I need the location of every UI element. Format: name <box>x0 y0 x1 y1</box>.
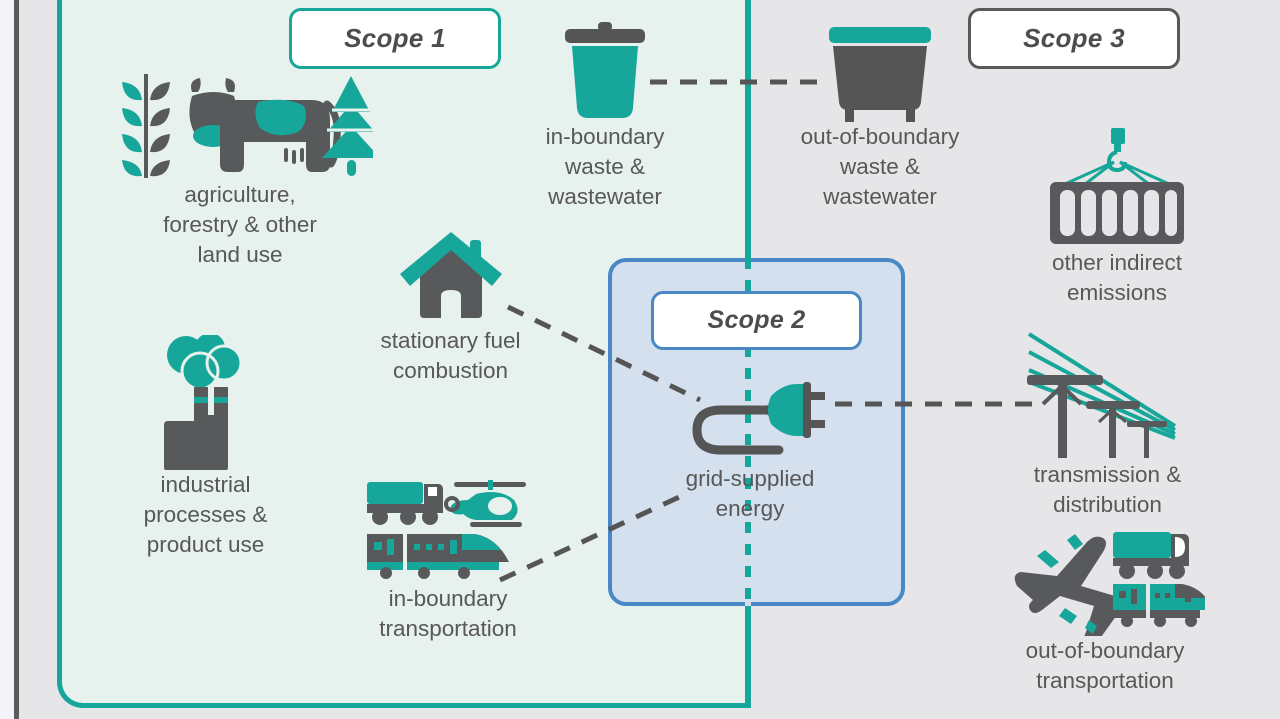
item-out-of-boundary-transportation: out-of-boundary transportation <box>1000 528 1210 696</box>
item-in-boundary-transportation: in-boundary transportation <box>348 476 548 644</box>
item-agriculture-label: agriculture, forestry & other land use <box>95 180 385 270</box>
scope2-label-text: Scope 2 <box>708 306 806 335</box>
dumpster-icon <box>825 22 935 122</box>
item-stationary-fuel: stationary fuel combustion <box>358 230 543 386</box>
item-in-boundary-transportation-label: in-boundary transportation <box>348 584 548 644</box>
wheat-cow-tree-icon <box>108 70 373 180</box>
left-margin-strip <box>0 0 14 719</box>
power-lines-icon <box>1013 330 1203 460</box>
scope3-label-text: Scope 3 <box>1023 23 1125 54</box>
scope1-label-pill: Scope 1 <box>289 8 501 69</box>
item-grid-supplied-energy-label: grid-supplied energy <box>660 464 840 524</box>
item-transmission-distribution-label: transmission & distribution <box>1010 460 1205 520</box>
truck-helicopter-train-icon <box>364 476 532 584</box>
house-icon <box>396 230 506 326</box>
item-industrial: industrial processes & product use <box>118 335 293 560</box>
item-in-boundary-waste: in-boundary waste & wastewater <box>515 22 695 212</box>
scope3-label-pill: Scope 3 <box>968 8 1180 69</box>
item-in-boundary-waste-label: in-boundary waste & wastewater <box>515 122 695 212</box>
item-grid-supplied-energy: grid-supplied energy <box>660 372 840 524</box>
item-stationary-fuel-label: stationary fuel combustion <box>358 326 543 386</box>
item-industrial-label: industrial processes & product use <box>118 470 293 560</box>
item-other-indirect-emissions-label: other indirect emissions <box>1022 248 1212 308</box>
item-transmission-distribution: transmission & distribution <box>1010 330 1205 520</box>
item-out-of-boundary-waste: out-of-boundary waste & wastewater <box>790 22 970 212</box>
diagram-canvas: Scope 1 Scope 3 Scope 2 <box>0 0 1280 719</box>
shipping-container-icon <box>1042 128 1192 248</box>
left-vertical-rule <box>14 0 19 719</box>
scope1-label-text: Scope 1 <box>344 23 446 54</box>
item-out-of-boundary-transportation-label: out-of-boundary transportation <box>1000 636 1210 696</box>
plane-truck-train-icon <box>1005 528 1205 636</box>
trash-bin-icon <box>562 22 648 122</box>
factory-smokestack-icon <box>150 335 262 470</box>
item-agriculture: agriculture, forestry & other land use <box>95 70 385 270</box>
item-other-indirect-emissions: other indirect emissions <box>1022 128 1212 308</box>
item-out-of-boundary-waste-label: out-of-boundary waste & wastewater <box>790 122 970 212</box>
power-plug-icon <box>675 372 825 464</box>
scope2-label-pill: Scope 2 <box>651 291 862 350</box>
